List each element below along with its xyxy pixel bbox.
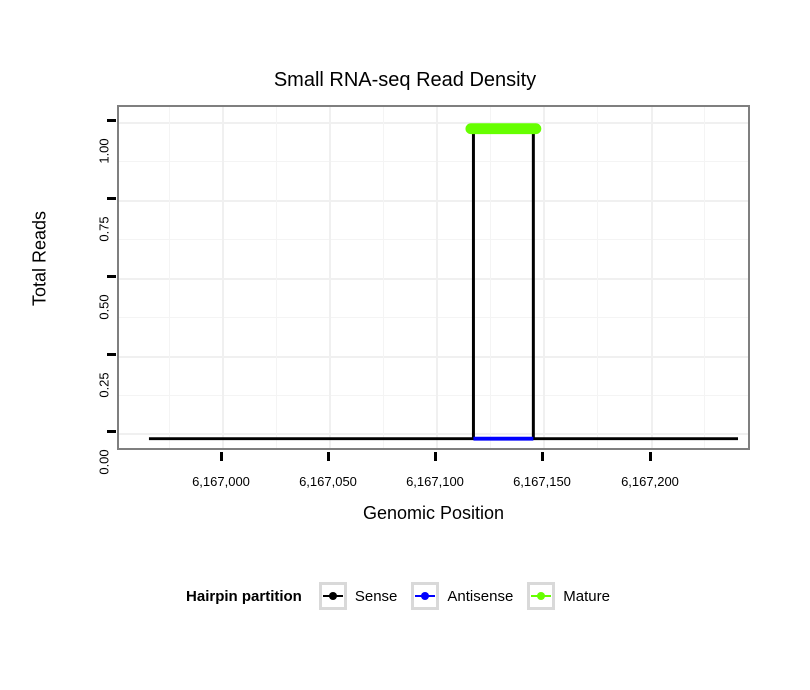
x-tick-mark-6167000 <box>220 452 223 461</box>
x-axis-title: Genomic Position <box>117 503 750 524</box>
y-tick-label-0: 0.00 <box>97 432 112 492</box>
x-tick-label-2: 6,167,100 <box>406 474 464 489</box>
legend-item-mature[interactable]: Mature <box>527 582 610 610</box>
series-layer <box>119 107 748 448</box>
legend-title: Hairpin partition <box>186 588 302 605</box>
chart-figure: Small RNA-seq Read Density Total Reads <box>0 0 810 690</box>
legend-key-mature-icon <box>527 582 555 610</box>
legend-key-antisense-icon <box>411 582 439 610</box>
y-axis-title: Total Reads <box>30 159 51 359</box>
legend-label-mature: Mature <box>563 588 610 605</box>
legend-label-sense: Sense <box>355 588 398 605</box>
x-tick-label-3: 6,167,150 <box>513 474 571 489</box>
legend-key-sense-icon <box>319 582 347 610</box>
y-tick-label-1: 0.25 <box>97 355 112 415</box>
chart-title: Small RNA-seq Read Density <box>0 68 810 92</box>
x-tick-mark-6167100 <box>434 452 437 461</box>
x-tick-mark-6167200 <box>649 452 652 461</box>
legend: Hairpin partition Sense Antisense Mature <box>0 582 810 610</box>
plot-panel <box>117 105 750 450</box>
x-tick-mark-6167050 <box>327 452 330 461</box>
y-tick-label-3: 0.75 <box>97 199 112 259</box>
y-tick-label-4: 1.00 <box>97 121 112 181</box>
legend-item-sense[interactable]: Sense <box>319 582 398 610</box>
legend-label-antisense: Antisense <box>447 588 513 605</box>
x-tick-mark-6167150 <box>541 452 544 461</box>
x-tick-label-4: 6,167,200 <box>621 474 679 489</box>
x-tick-label-0: 6,167,000 <box>192 474 250 489</box>
legend-item-antisense[interactable]: Antisense <box>411 582 513 610</box>
series-line-sense <box>149 129 738 439</box>
y-tick-label-2: 0.50 <box>97 277 112 337</box>
x-tick-label-1: 6,167,050 <box>299 474 357 489</box>
